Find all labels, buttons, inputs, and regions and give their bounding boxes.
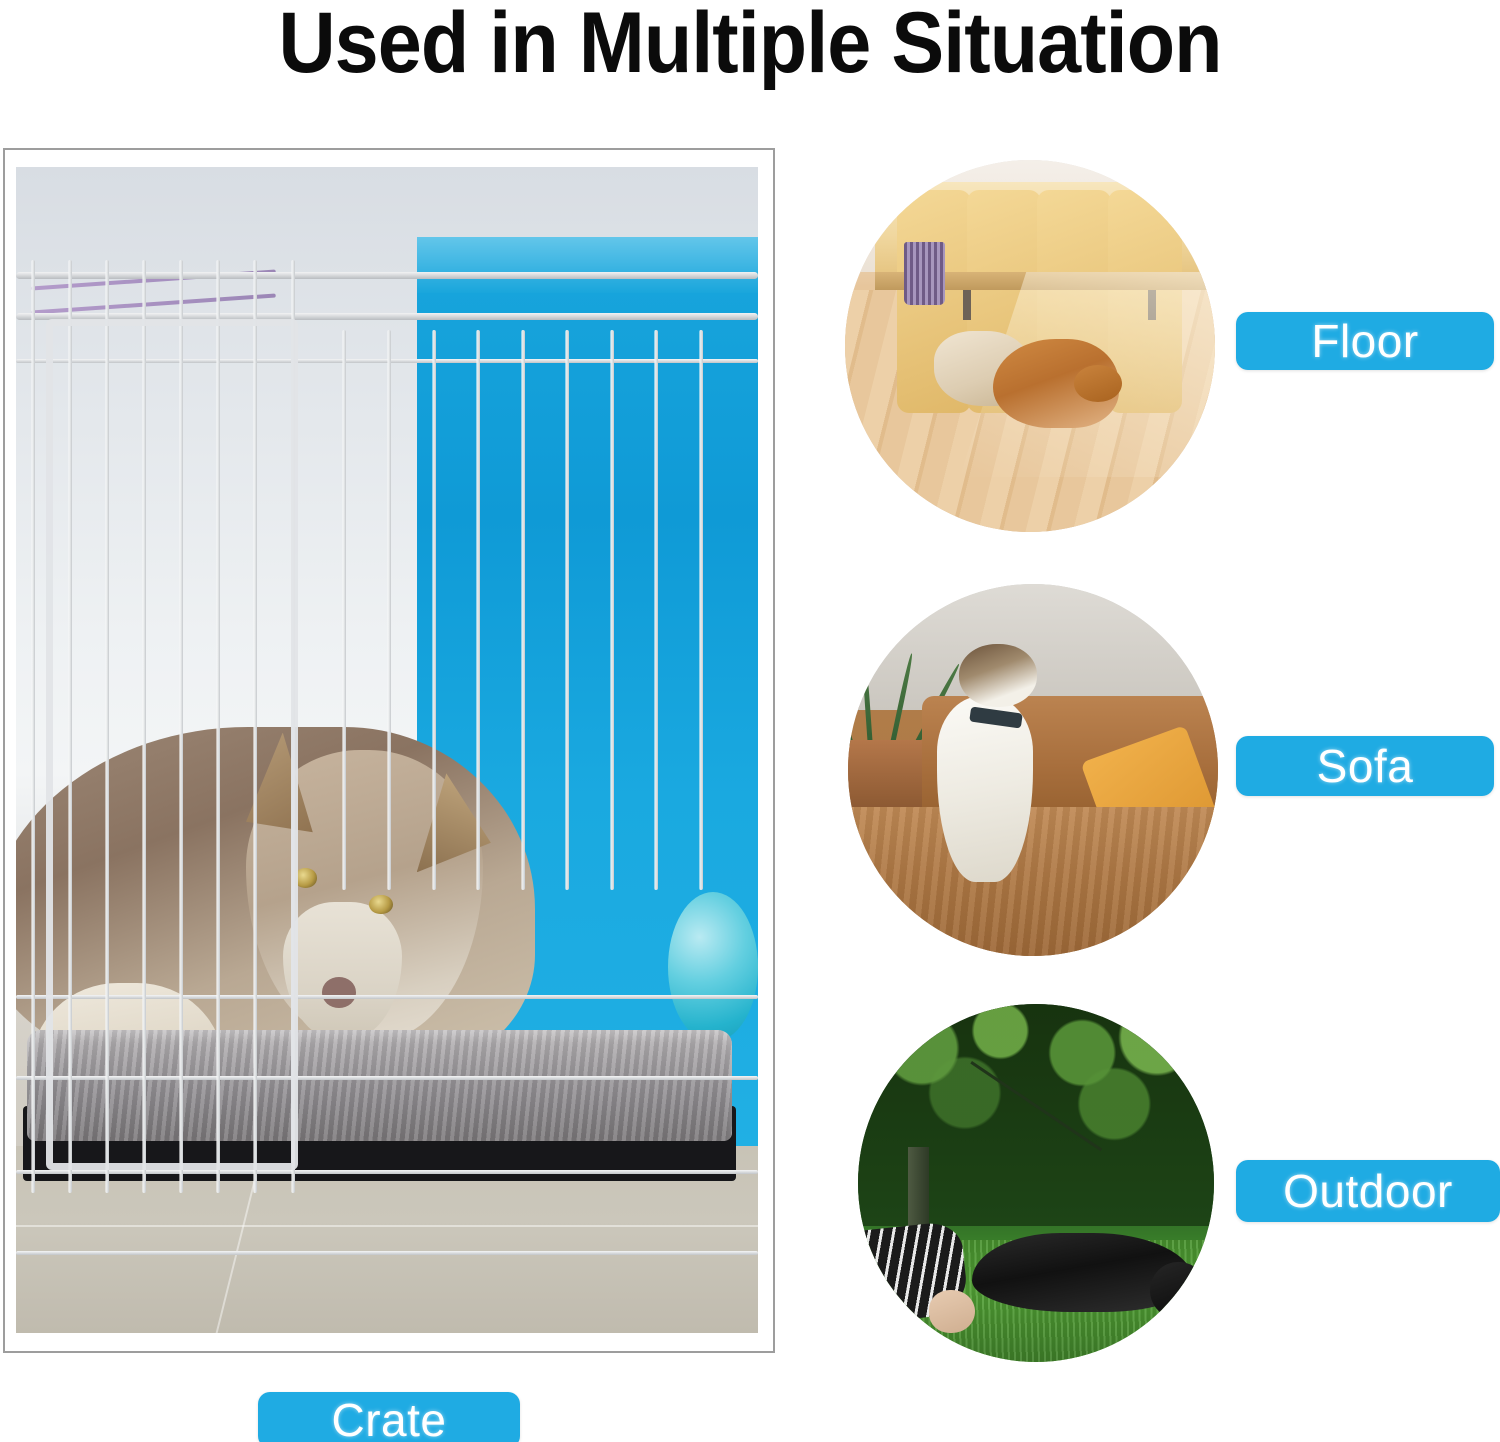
wire-crate-overlay bbox=[16, 167, 758, 1333]
main-photo-frame bbox=[3, 148, 775, 1353]
crate-photo bbox=[16, 167, 758, 1333]
badge-crate[interactable]: Crate bbox=[258, 1392, 520, 1442]
crate-vbar-14 bbox=[565, 330, 569, 890]
crate-vbar-13 bbox=[521, 330, 525, 890]
crate-vbar-9 bbox=[342, 330, 346, 890]
sofa-scene bbox=[848, 584, 1218, 956]
crate-vbar-11 bbox=[432, 330, 436, 890]
situation-photo-floor bbox=[845, 160, 1215, 532]
badge-floor[interactable]: Floor bbox=[1236, 312, 1494, 370]
crate-vbar-12 bbox=[476, 330, 480, 890]
situation-photo-outdoor bbox=[858, 1004, 1214, 1362]
badge-sofa[interactable]: Sofa bbox=[1236, 736, 1494, 796]
floor-dog-head bbox=[1074, 365, 1122, 402]
crate-vbar-16 bbox=[654, 330, 658, 890]
crate-hbar-5 bbox=[16, 1251, 758, 1255]
crate-vbar-17 bbox=[699, 330, 703, 890]
crate-hbar-4 bbox=[16, 1170, 758, 1174]
crate-top-rail-1 bbox=[16, 272, 758, 279]
sofa-dog-head bbox=[959, 644, 1037, 707]
crate-door[interactable] bbox=[46, 319, 298, 1170]
floor-vase bbox=[904, 242, 945, 305]
outdoor-scene bbox=[858, 1004, 1214, 1362]
crate-vbar-1 bbox=[31, 260, 35, 1193]
crate-vbar-10 bbox=[387, 330, 391, 890]
badge-outdoor[interactable]: Outdoor bbox=[1236, 1160, 1500, 1222]
infographic-page: Used in Multiple Situation bbox=[0, 0, 1500, 1442]
situation-photo-sofa bbox=[848, 584, 1218, 956]
sofa-seat bbox=[848, 807, 1218, 956]
outdoor-dog-head bbox=[1150, 1262, 1207, 1319]
floor-sofa-leg-1 bbox=[963, 290, 970, 320]
crate-vbar-15 bbox=[610, 330, 614, 890]
page-title: Used in Multiple Situation bbox=[60, 0, 1440, 93]
floor-scene bbox=[845, 160, 1215, 532]
